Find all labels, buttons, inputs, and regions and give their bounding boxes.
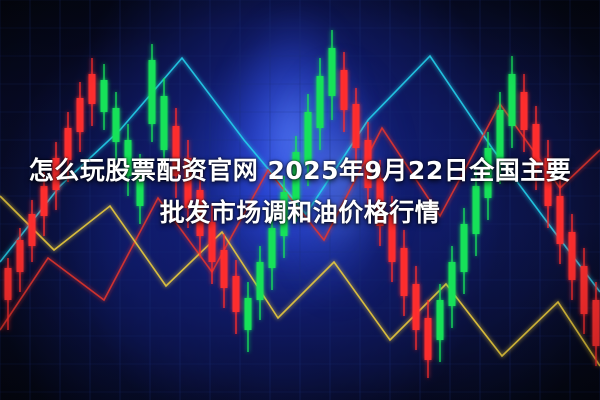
chart-image: 怎么玩股票配资官网 2025年9月22日全国主要 批发市场调和油价格行情 xyxy=(0,0,600,400)
candle xyxy=(425,300,432,378)
candle xyxy=(233,260,240,334)
candle xyxy=(77,82,84,152)
candle xyxy=(257,246,264,320)
candle xyxy=(581,248,588,334)
candle xyxy=(437,284,444,362)
candle xyxy=(5,258,12,330)
candle xyxy=(401,230,408,316)
candle xyxy=(101,64,108,130)
caption-line-2: 批发市场调和油价格行情 xyxy=(14,192,586,234)
caption-text: 怎么玩股票配资官网 2025年9月22日全国主要 批发市场调和油价格行情 xyxy=(0,150,600,234)
candle xyxy=(317,58,324,150)
candle xyxy=(341,52,348,132)
candle xyxy=(17,228,24,292)
caption-line-1: 怎么玩股票配资官网 2025年9月22日全国主要 xyxy=(14,150,586,192)
candle xyxy=(245,282,252,352)
candle xyxy=(413,266,420,350)
candle xyxy=(593,282,600,366)
